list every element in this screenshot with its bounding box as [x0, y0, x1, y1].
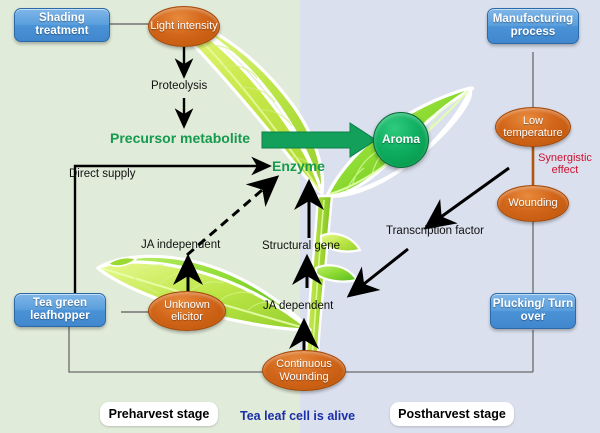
footer-preharvest-stage: Preharvest stage [100, 402, 218, 426]
label-synergistic-effect: Synergistic effect [534, 152, 596, 176]
node-light-intensity-label: Light intensity [150, 20, 217, 32]
node-aroma-label: Aroma [382, 133, 420, 146]
label-ja-independent: JA independent [141, 239, 220, 251]
node-manufacturing-process[interactable]: Manufacturing process [487, 8, 579, 44]
footer-postharvest-label: Postharvest stage [398, 407, 506, 421]
node-shading-treatment[interactable]: Shading treatment [14, 8, 110, 42]
footer-cell-state: Tea leaf cell is alive [240, 409, 355, 423]
label-direct-supply: Direct supply [69, 168, 135, 180]
footer-postharvest-stage: Postharvest stage [390, 402, 514, 426]
node-plucking-turn-over-label: Plucking/ Turn over [491, 298, 575, 324]
footer-preharvest-label: Preharvest stage [109, 407, 210, 421]
node-manufacturing-process-label: Manufacturing process [488, 13, 578, 39]
node-plucking-turn-over[interactable]: Plucking/ Turn over [490, 293, 576, 329]
node-aroma[interactable]: Aroma [373, 112, 429, 168]
node-low-temperature-label: Low temperature [496, 115, 570, 140]
label-proteolysis: Proteolysis [151, 80, 207, 92]
node-unknown-elicitor-label: Unknown elicitor [149, 299, 225, 324]
diagram-canvas: Shading treatment Light intensity Manufa… [0, 0, 600, 433]
label-precursor-metabolite: Precursor metabolite [110, 130, 250, 146]
node-wounding-label: Wounding [508, 197, 557, 209]
label-enzyme: Enzyme [272, 158, 325, 174]
label-ja-dependent: JA dependent [263, 300, 333, 312]
label-transcription-factor: Transcription factor [386, 225, 484, 237]
node-tea-green-leafhopper[interactable]: Tea green leafhopper [14, 293, 106, 327]
node-shading-treatment-label: Shading treatment [15, 12, 109, 38]
node-wounding[interactable]: Wounding [497, 185, 569, 222]
node-continuous-wounding-label: Continuous Wounding [263, 358, 345, 383]
node-unknown-elicitor[interactable]: Unknown elicitor [148, 291, 226, 331]
node-continuous-wounding[interactable]: Continuous Wounding [262, 350, 346, 391]
label-structural-gene: Structural gene [262, 240, 340, 252]
node-tea-green-leafhopper-label: Tea green leafhopper [15, 297, 105, 323]
node-light-intensity[interactable]: Light intensity [148, 6, 220, 47]
node-low-temperature[interactable]: Low temperature [495, 107, 571, 147]
